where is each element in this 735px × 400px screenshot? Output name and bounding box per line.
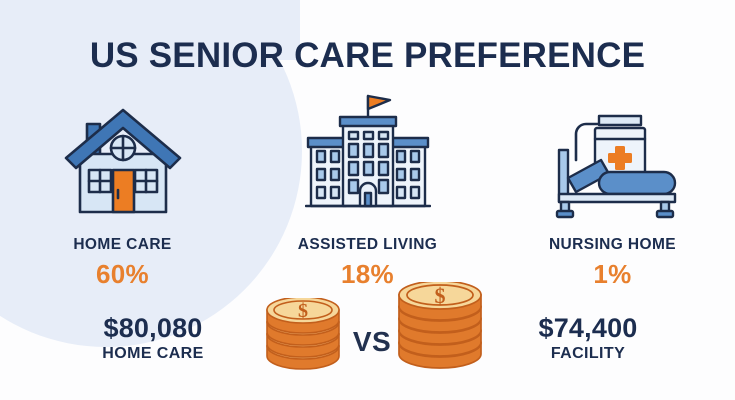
- hospital-bed-icon-wrap: [543, 92, 683, 220]
- cost-amount: $74,400: [483, 314, 693, 343]
- versus-separator: VS: [345, 326, 399, 358]
- category-percent: 18%: [341, 259, 394, 290]
- cost-caption: HOME CARE: [48, 345, 258, 363]
- cost-amount: $80,080: [48, 314, 258, 343]
- apartment-building-icon-wrap: [305, 92, 431, 220]
- cost-home-care: $80,080 HOME CARE: [48, 314, 258, 363]
- dollar-sign-glyph: $: [435, 283, 446, 308]
- house-icon-wrap: [59, 92, 187, 220]
- category-percent: 60%: [96, 259, 149, 290]
- infographic-canvas: US SENIOR CARE PREFERENCE: [0, 0, 735, 400]
- dollar-sign-glyph: $: [298, 300, 308, 322]
- category-home-care: HOME CARE 60%: [0, 92, 245, 290]
- coin-stack-icon: $: [262, 298, 344, 378]
- category-percent: 1%: [593, 259, 631, 290]
- category-assisted-living: ASSISTED LIVING 18%: [245, 92, 490, 290]
- category-label: ASSISTED LIVING: [298, 236, 438, 254]
- coin-stack-icon: $: [395, 282, 485, 378]
- coin-stack-right-wrap: $: [395, 282, 485, 383]
- house-icon: [59, 102, 187, 220]
- page-title: US SENIOR CARE PREFERENCE: [0, 36, 735, 76]
- coin-stack-left-wrap: $: [262, 298, 344, 383]
- apartment-building-icon: [305, 90, 431, 220]
- cost-caption: FACILITY: [483, 345, 693, 363]
- cost-facility: $74,400 FACILITY: [483, 314, 693, 363]
- category-label: HOME CARE: [73, 236, 171, 254]
- hospital-bed-icon: [543, 98, 683, 220]
- category-nursing-home: NURSING HOME 1%: [490, 92, 735, 290]
- category-label: NURSING HOME: [549, 236, 676, 254]
- category-row: HOME CARE 60%: [0, 92, 735, 290]
